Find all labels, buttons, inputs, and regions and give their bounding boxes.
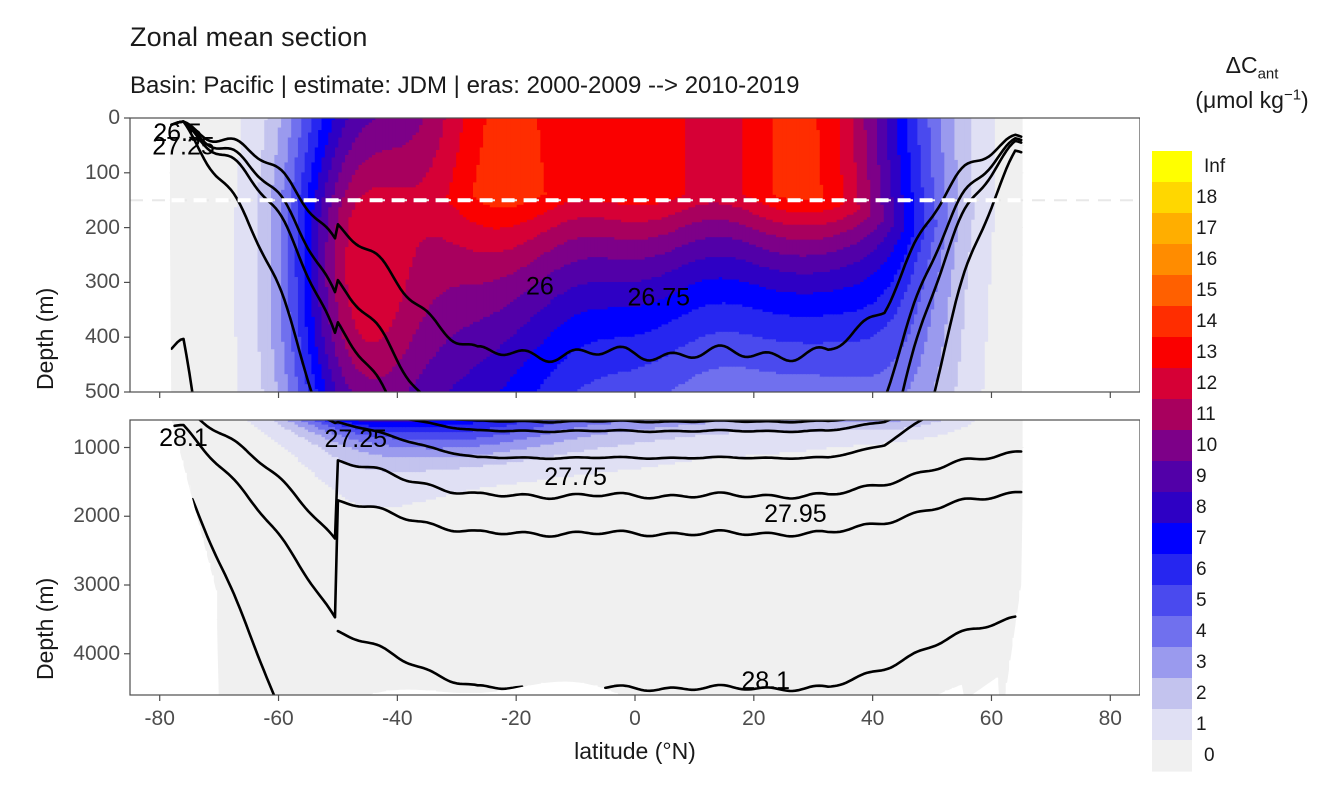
contour-label: 28.1: [741, 667, 790, 695]
colorbar-tick-label: 17: [1196, 218, 1217, 240]
colorbar-band: [1152, 647, 1192, 679]
colorbar-band: [1152, 275, 1192, 307]
contour-label: 27.75: [544, 463, 607, 491]
upper-panel-y-tick-label: 500: [40, 380, 120, 404]
x-tick-label: -80: [145, 707, 175, 731]
x-tick-label: -60: [263, 707, 293, 731]
colorbar-tick-label: 8: [1196, 497, 1207, 519]
colorbar-tick-label: 11: [1196, 404, 1216, 426]
contour-label: 26: [526, 272, 554, 300]
x-tick-label: 40: [861, 707, 884, 731]
upper-panel-y-tick-label: 300: [40, 270, 120, 294]
x-tick-label: 0: [629, 707, 641, 731]
legend-title-delta-cant: ΔCant: [1226, 52, 1279, 78]
colorbar-band: [1152, 182, 1192, 214]
upper-panel-y-tick-label: 100: [40, 161, 120, 185]
colorbar-tick-label: 3: [1196, 652, 1207, 674]
colorbar-tick-label: 1: [1196, 714, 1207, 736]
colorbar-band: [1152, 585, 1192, 617]
x-tick-label: -40: [382, 707, 412, 731]
colorbar-band: [1152, 244, 1192, 276]
colorbar-band: [1152, 616, 1192, 648]
lower-panel-y-tick-label: 1000: [40, 436, 120, 460]
x-tick-label: 80: [1099, 707, 1122, 731]
colorbar-tick-label: 2: [1196, 683, 1207, 705]
x-tick-label: -20: [501, 707, 531, 731]
contour-label: 28.1: [159, 424, 208, 452]
colorbar-band: [1152, 554, 1192, 586]
upper-panel-y-tick-label: 200: [40, 216, 120, 240]
lower-panel-y-tick-label: 4000: [40, 642, 120, 666]
colorbar-band: [1152, 678, 1192, 710]
legend-title-units: (μmol kg−1): [1195, 87, 1308, 113]
colorbar-band: [1152, 740, 1192, 772]
colorbar-band: [1152, 151, 1192, 183]
colorbar-band: [1152, 523, 1192, 555]
colorbar-tick-label: 7: [1196, 528, 1207, 550]
colorbar-tick-label: 0: [1204, 745, 1215, 767]
zonal-mean-section-plot: 2626.7527.2526.528.127.2527.7527.9528.1: [0, 0, 1140, 790]
colorbar-band: [1152, 337, 1192, 369]
contour-label: 27.25: [324, 425, 387, 453]
colorbar-tick-label: 10: [1196, 435, 1217, 457]
lower-panel-y-tick-label: 3000: [40, 573, 120, 597]
upper-panel-y-tick-label: 0: [40, 106, 120, 130]
legend-title: ΔCant (μmol kg−1): [1164, 50, 1340, 116]
colorbar-tick-label: 15: [1196, 280, 1217, 302]
colorbar-band: [1152, 368, 1192, 400]
colorbar-tick-label: 14: [1196, 311, 1217, 333]
lower-panel-filled-contours: [170, 420, 1023, 696]
colorbar-tick-label: 5: [1196, 590, 1207, 612]
colorbar-tick-label: 6: [1196, 559, 1207, 581]
isopycnal-26: [451, 406, 849, 409]
x-tick-label: 20: [742, 707, 765, 731]
colorbar-tick-label: 12: [1196, 373, 1217, 395]
lower-panel-y-tick-label: 2000: [40, 504, 120, 528]
colorbar-band: [1152, 213, 1192, 245]
colorbar-band: [1152, 461, 1192, 493]
colorbar-band: [1152, 399, 1192, 431]
colorbar-tick-label: 16: [1196, 249, 1217, 271]
contour-label: 26.5: [153, 119, 202, 147]
colorbar-tick-label: 13: [1196, 342, 1217, 364]
colorbar-band: [1152, 492, 1192, 524]
upper-panel-y-tick-label: 400: [40, 325, 120, 349]
lower-panel: 28.127.2527.7527.9528.1: [124, 406, 1140, 714]
x-tick-label: 60: [980, 707, 1003, 731]
colorbar-band: [1152, 709, 1192, 741]
colorbar-tick-label: 9: [1196, 466, 1207, 488]
colorbar-band: [1152, 430, 1192, 462]
colorbar-tick-label: 4: [1196, 621, 1207, 643]
colorbar-band: [1152, 306, 1192, 338]
x-axis-label: latitude (°N): [130, 738, 1140, 765]
colorbar-tick-label: 18: [1196, 187, 1217, 209]
colorbar-tick-label: Inf: [1204, 156, 1225, 178]
contour-label: 27.95: [764, 500, 827, 528]
contour-label: 26.75: [627, 283, 690, 311]
